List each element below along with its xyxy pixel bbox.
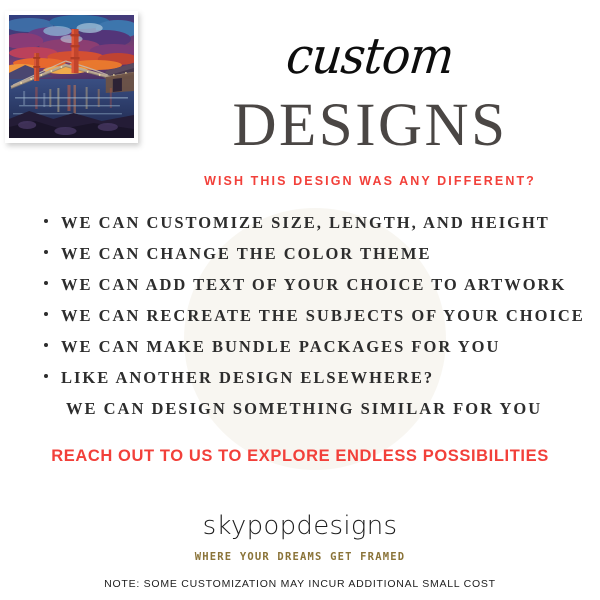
list-item-label: WE CAN DESIGN SOMETHING SIMILAR FOR YOU xyxy=(66,399,542,418)
list-item-continuation: WE CAN DESIGN SOMETHING SIMILAR FOR YOU xyxy=(44,401,584,432)
bullet-icon xyxy=(44,343,48,347)
bullet-icon xyxy=(44,312,48,316)
script-headline: custom xyxy=(137,32,600,82)
feature-list: WE CAN CUSTOMIZE SIZE, LENGTH, AND HEIGH… xyxy=(44,215,584,432)
list-item: WE CAN CUSTOMIZE SIZE, LENGTH, AND HEIGH… xyxy=(44,215,584,246)
call-to-action-text: REACH OUT TO US TO EXPLORE ENDLESS POSSI… xyxy=(0,447,600,466)
bullet-icon xyxy=(44,281,48,285)
list-item: WE CAN CHANGE THE COLOR THEME xyxy=(44,246,584,277)
list-item-label: WE CAN CHANGE THE COLOR THEME xyxy=(61,244,431,263)
bullet-icon xyxy=(44,250,48,254)
list-item: WE CAN ADD TEXT OF YOUR CHOICE TO ARTWOR… xyxy=(44,277,584,308)
list-item: LIKE ANOTHER DESIGN ELSEWHERE? xyxy=(44,370,584,401)
list-item-label: WE CAN MAKE BUNDLE PACKAGES FOR YOU xyxy=(61,337,500,356)
list-item: WE CAN MAKE BUNDLE PACKAGES FOR YOU xyxy=(44,339,584,370)
promo-graphic: custom DESIGNS WISH THIS DESIGN WAS ANY … xyxy=(0,0,600,600)
golden-gate-painting-icon xyxy=(9,15,134,138)
list-item-label: LIKE ANOTHER DESIGN ELSEWHERE? xyxy=(61,368,434,387)
artwork-thumbnail[interactable] xyxy=(5,11,138,143)
brand-logo-text: skypopdesigns xyxy=(0,511,600,541)
list-item-label: WE CAN RECREATE THE SUBJECTS OF YOUR CHO… xyxy=(61,306,585,325)
disclaimer-note: NOTE: SOME CUSTOMIZATION MAY INCUR ADDIT… xyxy=(0,578,600,590)
page-title: DESIGNS xyxy=(140,95,600,156)
bullet-icon xyxy=(44,219,48,223)
subheadline: WISH THIS DESIGN WAS ANY DIFFERENT? xyxy=(140,174,600,188)
bullet-icon xyxy=(44,374,48,378)
list-item-label: WE CAN ADD TEXT OF YOUR CHOICE TO ARTWOR… xyxy=(61,275,566,294)
brand-tagline: WHERE YOUR DREAMS GET FRAMED xyxy=(0,551,600,563)
list-item: WE CAN RECREATE THE SUBJECTS OF YOUR CHO… xyxy=(44,308,584,339)
headline-block: custom DESIGNS WISH THIS DESIGN WAS ANY … xyxy=(140,0,600,188)
list-item-label: WE CAN CUSTOMIZE SIZE, LENGTH, AND HEIGH… xyxy=(61,213,550,232)
